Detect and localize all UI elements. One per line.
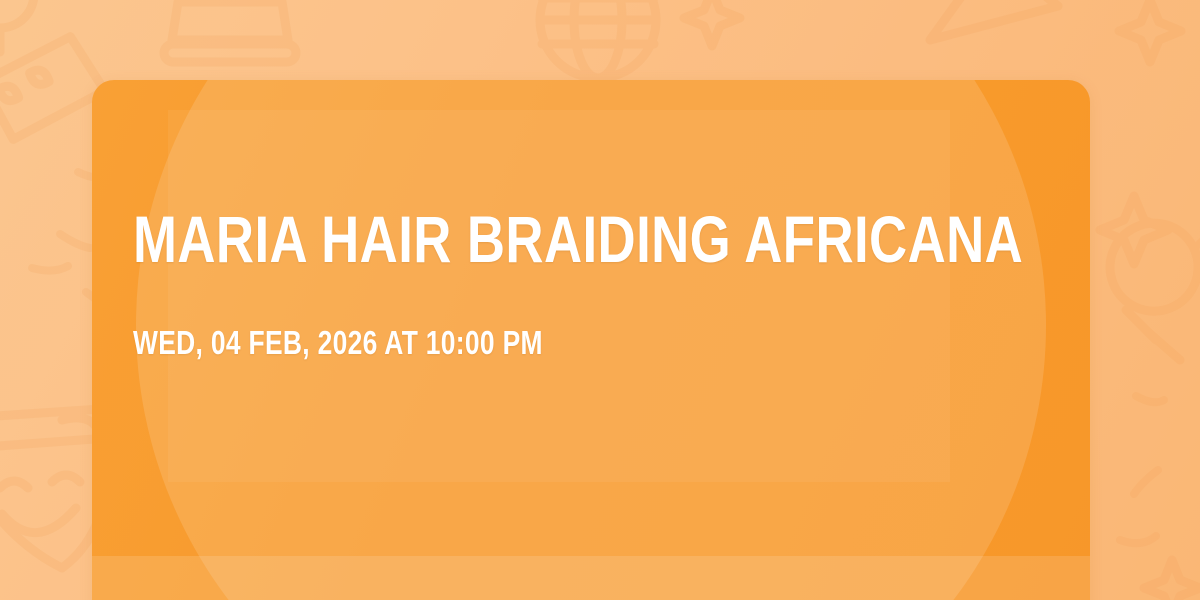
- confetti-streamer-icon: [1120, 396, 1164, 543]
- event-datetime: Wed, 04 Feb, 2026 at 10:00 PM: [133, 326, 853, 359]
- sparkle-icon: [684, 0, 740, 46]
- sparkle-icon: [1144, 560, 1200, 600]
- sparkle-icon: [1119, 0, 1181, 62]
- event-banner: Maria Hair Braiding Africana Wed, 04 Feb…: [0, 0, 1200, 600]
- projector-icon: [164, 0, 296, 62]
- event-title: Maria Hair Braiding Africana: [133, 206, 853, 272]
- decorative-bottom-band: [92, 556, 1090, 600]
- event-card: Maria Hair Braiding Africana Wed, 04 Feb…: [92, 80, 1090, 600]
- globe-icon: [540, 0, 656, 78]
- balloon-icon: [0, 0, 34, 52]
- party-popper-icon: [930, 0, 1094, 40]
- event-text-block: Maria Hair Braiding Africana Wed, 04 Feb…: [133, 206, 1033, 359]
